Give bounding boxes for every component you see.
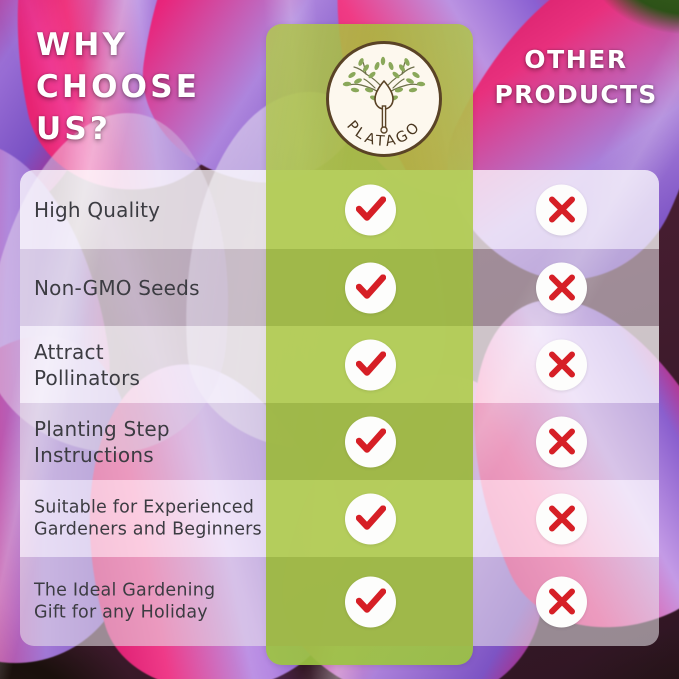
page-title-line-1: WHY — [36, 24, 266, 66]
check-mark-icon — [345, 262, 396, 313]
cross-mark-icon — [536, 493, 587, 544]
check-mark-icon — [345, 576, 396, 627]
feature-label-line: Pollinators — [34, 365, 284, 391]
feature-label-line: Attract — [34, 339, 284, 365]
check-mark-icon — [345, 339, 396, 390]
other-products-heading-line-1: OTHER — [473, 42, 679, 77]
check-mark-icon — [345, 493, 396, 544]
check-mark-icon — [345, 416, 396, 467]
feature-label: High Quality — [34, 197, 284, 223]
page-title-line-2: CHOOSE — [36, 66, 266, 108]
platago-logo: PLATAGO — [325, 40, 443, 158]
cross-mark-icon — [536, 184, 587, 235]
feature-label: Suitable for Experienced Gardeners and B… — [34, 496, 296, 542]
cross-mark-icon — [536, 416, 587, 467]
table-row[interactable]: Suitable for Experienced Gardeners and B… — [20, 480, 659, 557]
page-title: WHY CHOOSE US? — [36, 24, 266, 150]
check-mark-icon — [345, 184, 396, 235]
feature-label: Attract Pollinators — [34, 339, 284, 391]
cross-mark-icon — [536, 262, 587, 313]
table-row[interactable]: Non-GMO Seeds — [20, 249, 659, 326]
table-row[interactable]: The Ideal Gardening Gift for any Holiday — [20, 557, 659, 646]
feature-label-line: The Ideal Gardening — [34, 579, 296, 602]
table-row[interactable]: Attract Pollinators — [20, 326, 659, 403]
comparison-table: High Quality Non-GMO Seeds — [20, 170, 659, 646]
feature-label: The Ideal Gardening Gift for any Holiday — [34, 579, 296, 625]
feature-label-line: Suitable for Experienced — [34, 496, 296, 519]
feature-label-line: Gardeners and Beginners — [34, 519, 296, 542]
table-row[interactable]: Planting Step Instructions — [20, 403, 659, 480]
feature-label: Non-GMO Seeds — [34, 275, 284, 301]
page-title-line-3: US? — [36, 108, 266, 150]
feature-label-line: Gift for any Holiday — [34, 602, 296, 625]
cross-mark-icon — [536, 576, 587, 627]
other-products-heading: OTHER PRODUCTS — [473, 42, 679, 112]
feature-label-line: Instructions — [34, 442, 284, 468]
other-products-heading-line-2: PRODUCTS — [473, 77, 679, 112]
feature-label-line: Non-GMO Seeds — [34, 275, 284, 301]
cross-mark-icon — [536, 339, 587, 390]
feature-label: Planting Step Instructions — [34, 416, 284, 468]
feature-label-line: High Quality — [34, 197, 284, 223]
table-row[interactable]: High Quality — [20, 170, 659, 249]
feature-label-line: Planting Step — [34, 416, 284, 442]
infographic-canvas: WHY CHOOSE US? OTHER PRODUCTS — [0, 0, 679, 679]
